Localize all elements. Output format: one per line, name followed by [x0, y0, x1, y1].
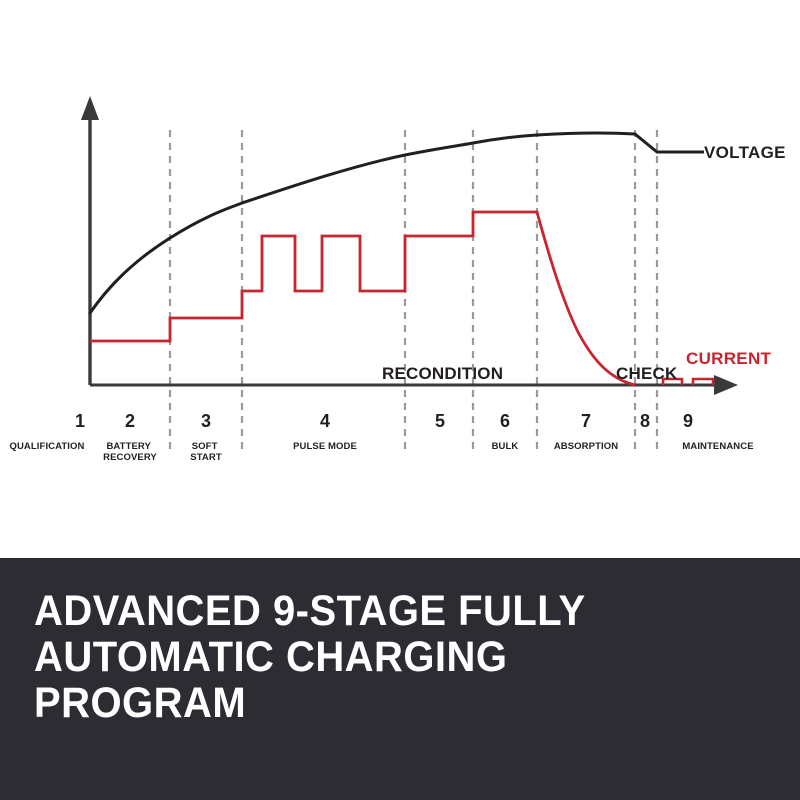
voltage-curve — [90, 133, 700, 313]
voltage-series-label: VOLTAGE — [704, 143, 786, 162]
stage-numbers: 1 2 3 4 5 6 7 8 9 — [75, 411, 693, 431]
stage-label-absorption: ABSORPTION — [554, 441, 618, 452]
charging-stage-chart: RECONDITION CHECK VOLTAGE CURRENT 1 2 3 … — [0, 0, 800, 558]
stage-label-bulk: BULK — [492, 441, 519, 452]
stage-label-qualification: QUALIFICATION — [9, 441, 84, 452]
stage-labels: QUALIFICATION BATTERY RECOVERY SOFT STAR… — [9, 441, 753, 463]
charging-program-infographic: RECONDITION CHECK VOLTAGE CURRENT 1 2 3 … — [0, 0, 800, 800]
stage-label-soft-start-line1: SOFT — [192, 441, 218, 452]
banner-title: ADVANCED 9-STAGE FULLY AUTOMATIC CHARGIN… — [34, 588, 722, 726]
stage-label-battery-recovery-line1: BATTERY — [106, 441, 151, 452]
stage-number-1: 1 — [75, 411, 85, 431]
stage-number-3: 3 — [201, 411, 211, 431]
check-label: CHECK — [616, 364, 678, 383]
stage-label-pulse-mode: PULSE MODE — [293, 441, 357, 452]
y-axis-arrow-icon — [81, 96, 99, 120]
stage-number-2: 2 — [125, 411, 135, 431]
stage-number-5: 5 — [435, 411, 445, 431]
stage-number-9: 9 — [683, 411, 693, 431]
stage-number-8: 8 — [640, 411, 650, 431]
stage-number-7: 7 — [581, 411, 591, 431]
stage-label-battery-recovery: BATTERY RECOVERY — [103, 441, 157, 463]
stage-label-soft-start-line2: START — [190, 452, 222, 463]
stage-label-maintenance: MAINTENANCE — [682, 441, 753, 452]
chart-svg: RECONDITION CHECK VOLTAGE CURRENT 1 2 3 … — [0, 0, 800, 558]
recondition-label: RECONDITION — [382, 364, 503, 383]
stage-label-soft-start: SOFT START — [190, 441, 222, 463]
stage-number-4: 4 — [320, 411, 330, 431]
x-axis-arrow-icon — [714, 375, 738, 395]
title-banner: ADVANCED 9-STAGE FULLY AUTOMATIC CHARGIN… — [0, 558, 800, 800]
stage-label-battery-recovery-line2: RECOVERY — [103, 452, 157, 463]
stage-number-6: 6 — [500, 411, 510, 431]
current-series-label: CURRENT — [686, 349, 772, 368]
